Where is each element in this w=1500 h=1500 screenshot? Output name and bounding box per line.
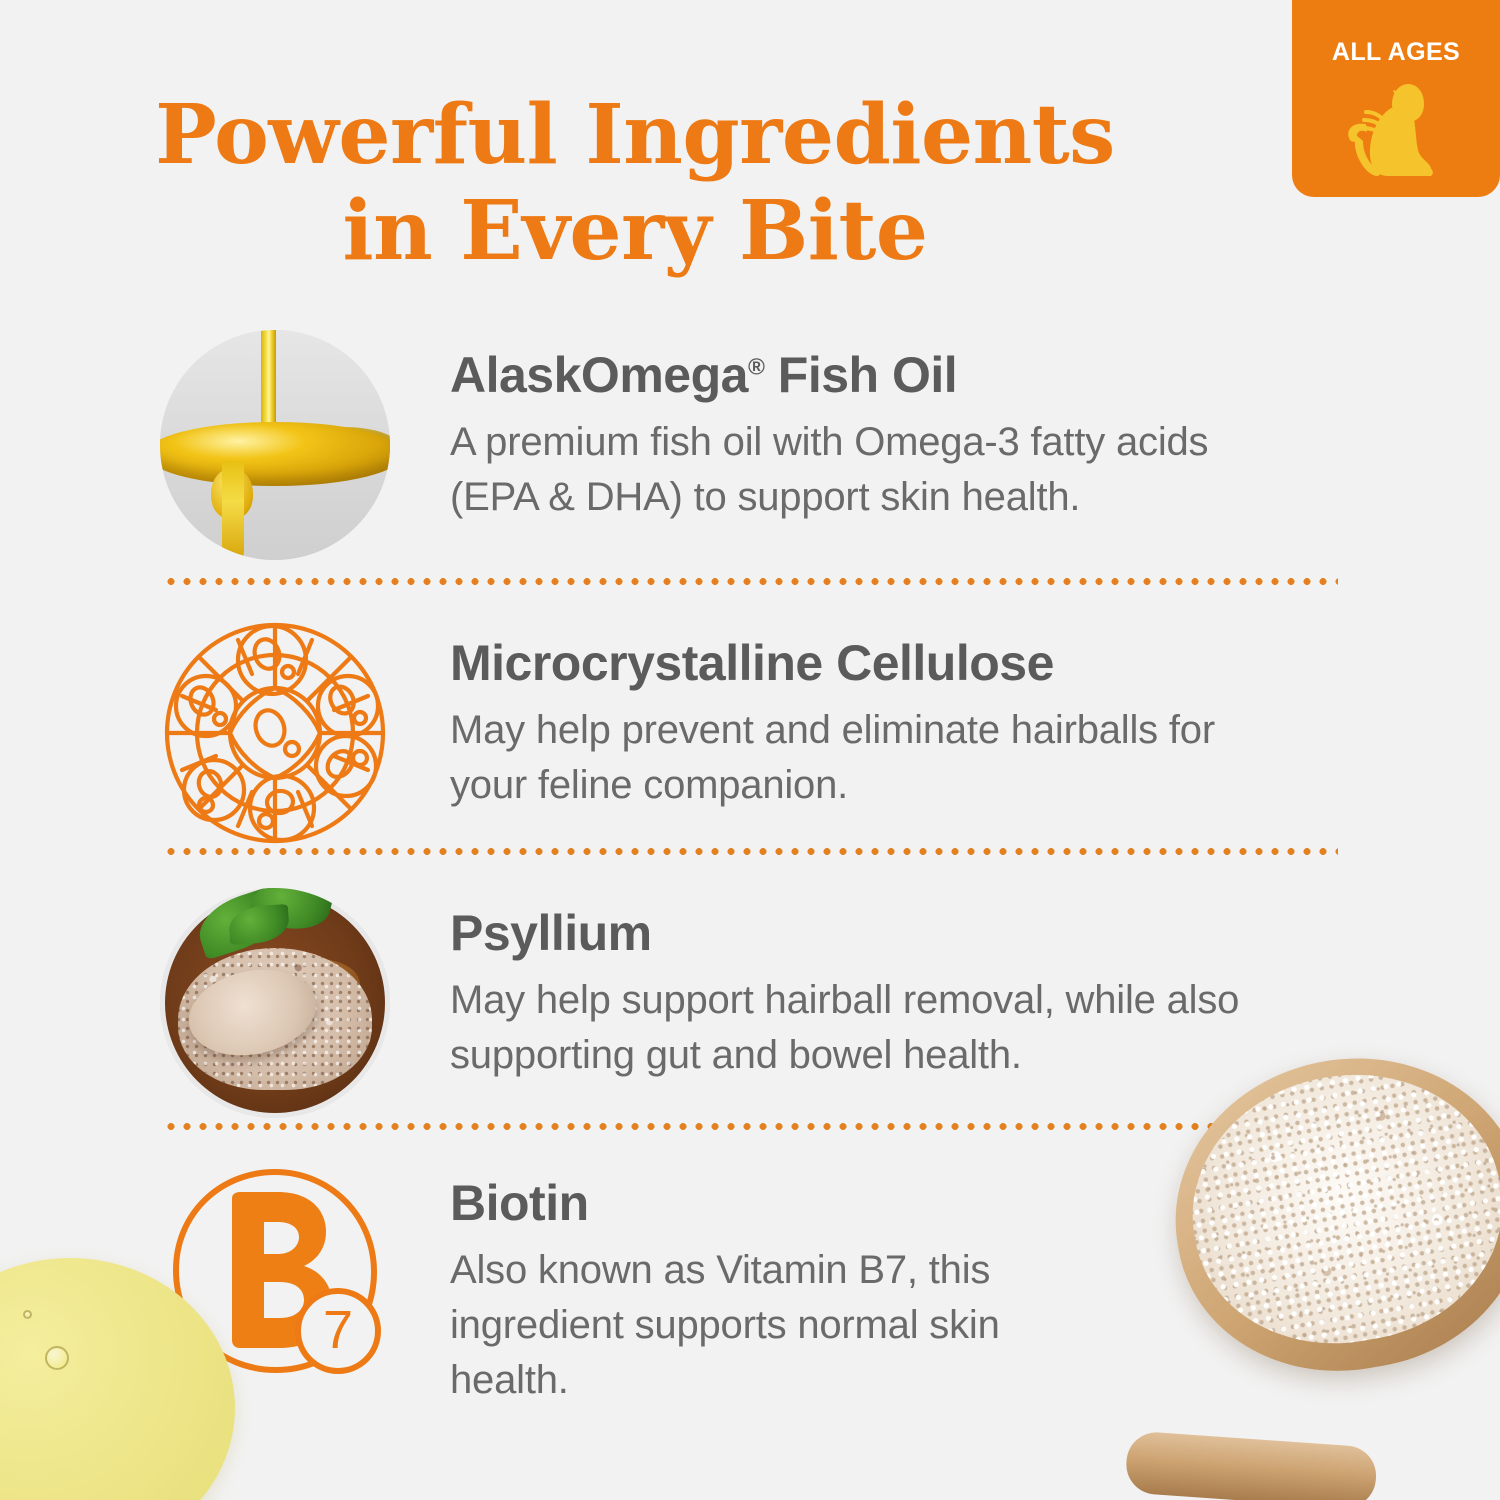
ingredient-title: AlaskOmega® Fish Oil: [450, 348, 1360, 403]
cellulose-structure-icon: [160, 618, 390, 848]
biotin-number-label: 7: [323, 1300, 353, 1360]
badge-label: ALL AGES: [1292, 40, 1500, 65]
ingredient-title: Microcrystalline Cellulose: [450, 636, 1360, 691]
ingredient-title: Psyllium: [450, 906, 1360, 961]
cat-icon: [1336, 72, 1456, 192]
ingredient-row-cellulose: Microcrystalline Cellulose May help prev…: [160, 618, 1360, 848]
ingredient-title-text: AlaskOmega: [450, 347, 748, 403]
ingredient-description: May help support hairball removal, while…: [450, 973, 1290, 1083]
fish-oil-photo: [160, 330, 390, 560]
ingredient-row-fish-oil: AlaskOmega® Fish Oil A premium fish oil …: [160, 330, 1360, 560]
infographic-page: ALL AGES Powerful Ingredients in: [0, 0, 1500, 1500]
page-title-line1: Powerful Ingredients: [155, 87, 1115, 183]
section-divider: [163, 848, 1338, 855]
ingredient-description: May help prevent and eliminate hairballs…: [450, 703, 1290, 813]
ingredient-title-suffix: Fish Oil: [764, 347, 957, 403]
page-title-line2: in Every Bite: [0, 184, 1270, 280]
page-title: Powerful Ingredients in Every Bite: [0, 88, 1270, 280]
ingredient-description: Also known as Vitamin B7, this ingredien…: [450, 1243, 1010, 1409]
all-ages-badge: ALL AGES: [1292, 0, 1500, 197]
ingredient-description: A premium fish oil with Omega-3 fatty ac…: [450, 415, 1290, 525]
registered-trademark-symbol: ®: [748, 353, 764, 379]
section-divider: [163, 578, 1338, 585]
psyllium-photo: [160, 888, 390, 1118]
